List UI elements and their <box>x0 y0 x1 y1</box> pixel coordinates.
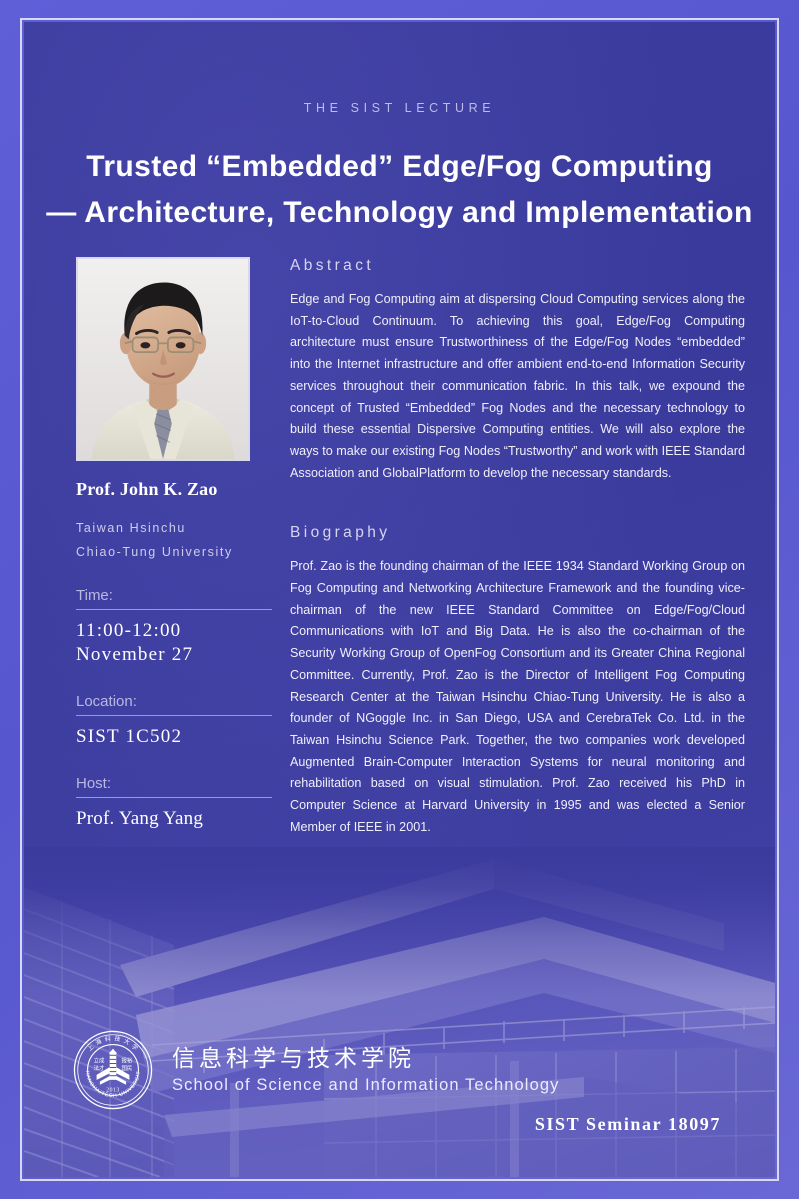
poster-root: THE SIST LECTURE Trusted “Embedded” Edge… <box>0 0 799 1199</box>
speaker-portrait-photo <box>76 257 250 461</box>
host-value: Prof. Yang Yang <box>76 807 252 831</box>
page-title: Trusted “Embedded” Edge/Fog Computing — … <box>24 144 775 236</box>
time-value-date: November 27 <box>76 643 252 667</box>
school-name-english: School of Science and Information Techno… <box>172 1073 559 1097</box>
seminar-id-label: SIST Seminar 18097 <box>535 1114 721 1135</box>
svg-text:立成: 立成 <box>94 1057 105 1065</box>
speaker-affiliation-line-1: Taiwan Hsinchu <box>76 520 252 537</box>
biography-text: Prof. Zao is the founding chairman of th… <box>290 556 745 838</box>
svg-text:国民: 国民 <box>122 1065 133 1072</box>
location-label: Location: <box>76 693 272 716</box>
speaker-affiliation-line-2: Chiao-Tung University <box>76 544 252 561</box>
host-label: Host: <box>76 775 272 798</box>
abstract-section: Abstract Edge and Fog Computing aim at d… <box>290 257 745 484</box>
location-block: Location: SIST 1C502 <box>76 693 252 749</box>
time-block: Time: 11:00-12:00 November 27 <box>76 587 252 667</box>
footer-branding: 上 海 科 技 大 学 SHANGHAITECH UNIVERSITY 立成 报… <box>72 1029 559 1111</box>
content-column: Abstract Edge and Fog Computing aim at d… <box>290 257 745 838</box>
location-value: SIST 1C502 <box>76 725 252 749</box>
university-seal-illustration: 上 海 科 技 大 学 SHANGHAITECH UNIVERSITY 立成 报… <box>72 1029 154 1111</box>
time-value: 11:00-12:00 November 27 <box>76 619 252 667</box>
svg-text:法才: 法才 <box>94 1064 105 1072</box>
svg-text:报裕: 报裕 <box>122 1057 133 1065</box>
host-block: Host: Prof. Yang Yang <box>76 775 252 831</box>
time-label: Time: <box>76 587 272 610</box>
biography-heading: Biography <box>290 524 745 542</box>
lecture-kicker: THE SIST LECTURE <box>24 101 775 115</box>
speaker-info-column: Prof. John K. Zao Taiwan Hsinchu Chiao-T… <box>76 257 252 831</box>
title-line-1: Trusted “Embedded” Edge/Fog Computing <box>24 144 775 190</box>
poster-panel: THE SIST LECTURE Trusted “Embedded” Edge… <box>24 22 775 1177</box>
speaker-name: Prof. John K. Zao <box>76 479 252 500</box>
time-value-hours: 11:00-12:00 <box>76 619 252 643</box>
school-name-chinese: 信息科学与技术学院 <box>172 1043 559 1073</box>
shanghaitech-seal-icon: 上 海 科 技 大 学 SHANGHAITECH UNIVERSITY 立成 报… <box>72 1029 154 1111</box>
abstract-heading: Abstract <box>290 257 745 275</box>
abstract-text: Edge and Fog Computing aim at dispersing… <box>290 289 745 484</box>
portrait-illustration <box>78 259 248 459</box>
biography-section: Biography Prof. Zao is the founding chai… <box>290 524 745 838</box>
title-line-2: — Architecture, Technology and Implement… <box>24 190 775 236</box>
svg-text:2013: 2013 <box>106 1087 119 1093</box>
school-names: 信息科学与技术学院 School of Science and Informat… <box>172 1043 559 1097</box>
